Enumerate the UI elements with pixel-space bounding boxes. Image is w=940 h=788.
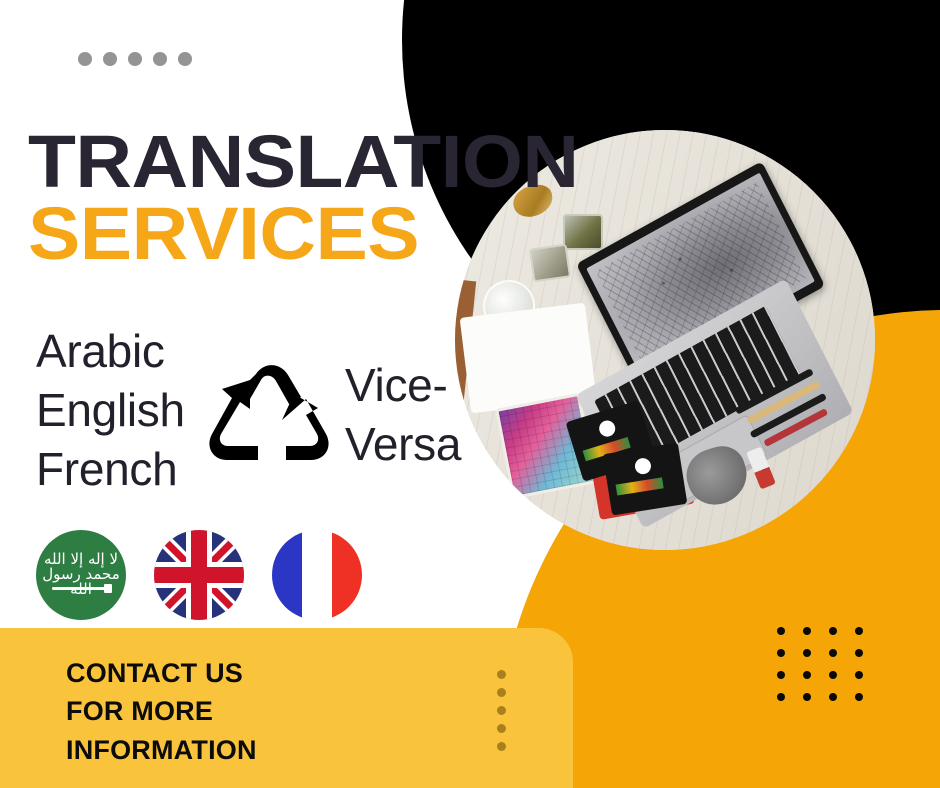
dot-icon: [78, 52, 92, 66]
stencil-hole: [598, 418, 618, 438]
dot-icon: [777, 693, 785, 701]
france-red-band: [332, 530, 362, 620]
language-item-arabic: Arabic: [36, 322, 185, 381]
dot-icon: [497, 670, 506, 679]
dot-icon: [103, 52, 117, 66]
dot-icon: [855, 649, 863, 657]
decorative-dot-grid: [777, 627, 881, 715]
poster-canvas: TRANSLATION SERVICES Arabic English Fren…: [0, 0, 940, 788]
dot-icon: [855, 627, 863, 635]
contact-banner[interactable]: CONTACT US FOR MORE INFORMATION: [0, 628, 573, 788]
uk-cross-red-vertical: [191, 530, 207, 620]
flag-list: لا إله إلا الله محمد رسول الله: [36, 530, 362, 620]
dot-icon: [803, 693, 811, 701]
dot-icon: [777, 671, 785, 679]
france-white-band: [302, 530, 332, 620]
dot-icon: [855, 693, 863, 701]
title-line-translation: TRANSLATION: [28, 128, 578, 196]
dot-icon: [829, 649, 837, 657]
dot-icon: [829, 671, 837, 679]
flag-saudi-script: لا إله إلا الله محمد رسول الله: [36, 552, 126, 597]
dot-icon: [855, 671, 863, 679]
dot-icon: [829, 627, 837, 635]
flag-saudi-arabia: لا إله إلا الله محمد رسول الله: [36, 530, 126, 620]
dot-icon: [803, 627, 811, 635]
language-item-french: French: [36, 440, 185, 499]
banner-dot-column: [497, 670, 506, 751]
flag-saudi-sword: [52, 587, 110, 590]
dot-icon: [777, 649, 785, 657]
language-list: Arabic English French: [36, 322, 185, 499]
dot-icon: [128, 52, 142, 66]
contact-banner-text: CONTACT US FOR MORE INFORMATION: [66, 654, 257, 769]
stencil-card-2: [603, 442, 688, 515]
decorative-dot-row: [78, 52, 192, 66]
dot-icon: [178, 52, 192, 66]
dot-icon: [829, 693, 837, 701]
flag-united-kingdom: [154, 530, 244, 620]
contact-line-2: FOR MORE: [66, 692, 257, 730]
recycle-arrows-icon: [206, 358, 336, 470]
language-item-english: English: [36, 381, 185, 440]
dot-icon: [153, 52, 167, 66]
dot-icon: [497, 724, 506, 733]
contact-line-3: INFORMATION: [66, 731, 257, 769]
direction-note-line2: Versa: [345, 415, 461, 474]
stencil-sticker: [615, 478, 663, 496]
direction-note-line1: Vice-: [345, 356, 461, 415]
direction-note: Vice- Versa: [345, 356, 461, 474]
dot-icon: [803, 649, 811, 657]
dot-icon: [497, 742, 506, 751]
title-line-services: SERVICES: [28, 200, 578, 268]
france-blue-band: [272, 530, 302, 620]
dot-icon: [777, 627, 785, 635]
flag-france: [272, 530, 362, 620]
dot-icon: [803, 671, 811, 679]
dot-icon: [497, 706, 506, 715]
page-title: TRANSLATION SERVICES: [28, 128, 547, 268]
stencil-hole: [634, 457, 652, 475]
dot-icon: [497, 688, 506, 697]
contact-line-1: CONTACT US: [66, 654, 257, 692]
